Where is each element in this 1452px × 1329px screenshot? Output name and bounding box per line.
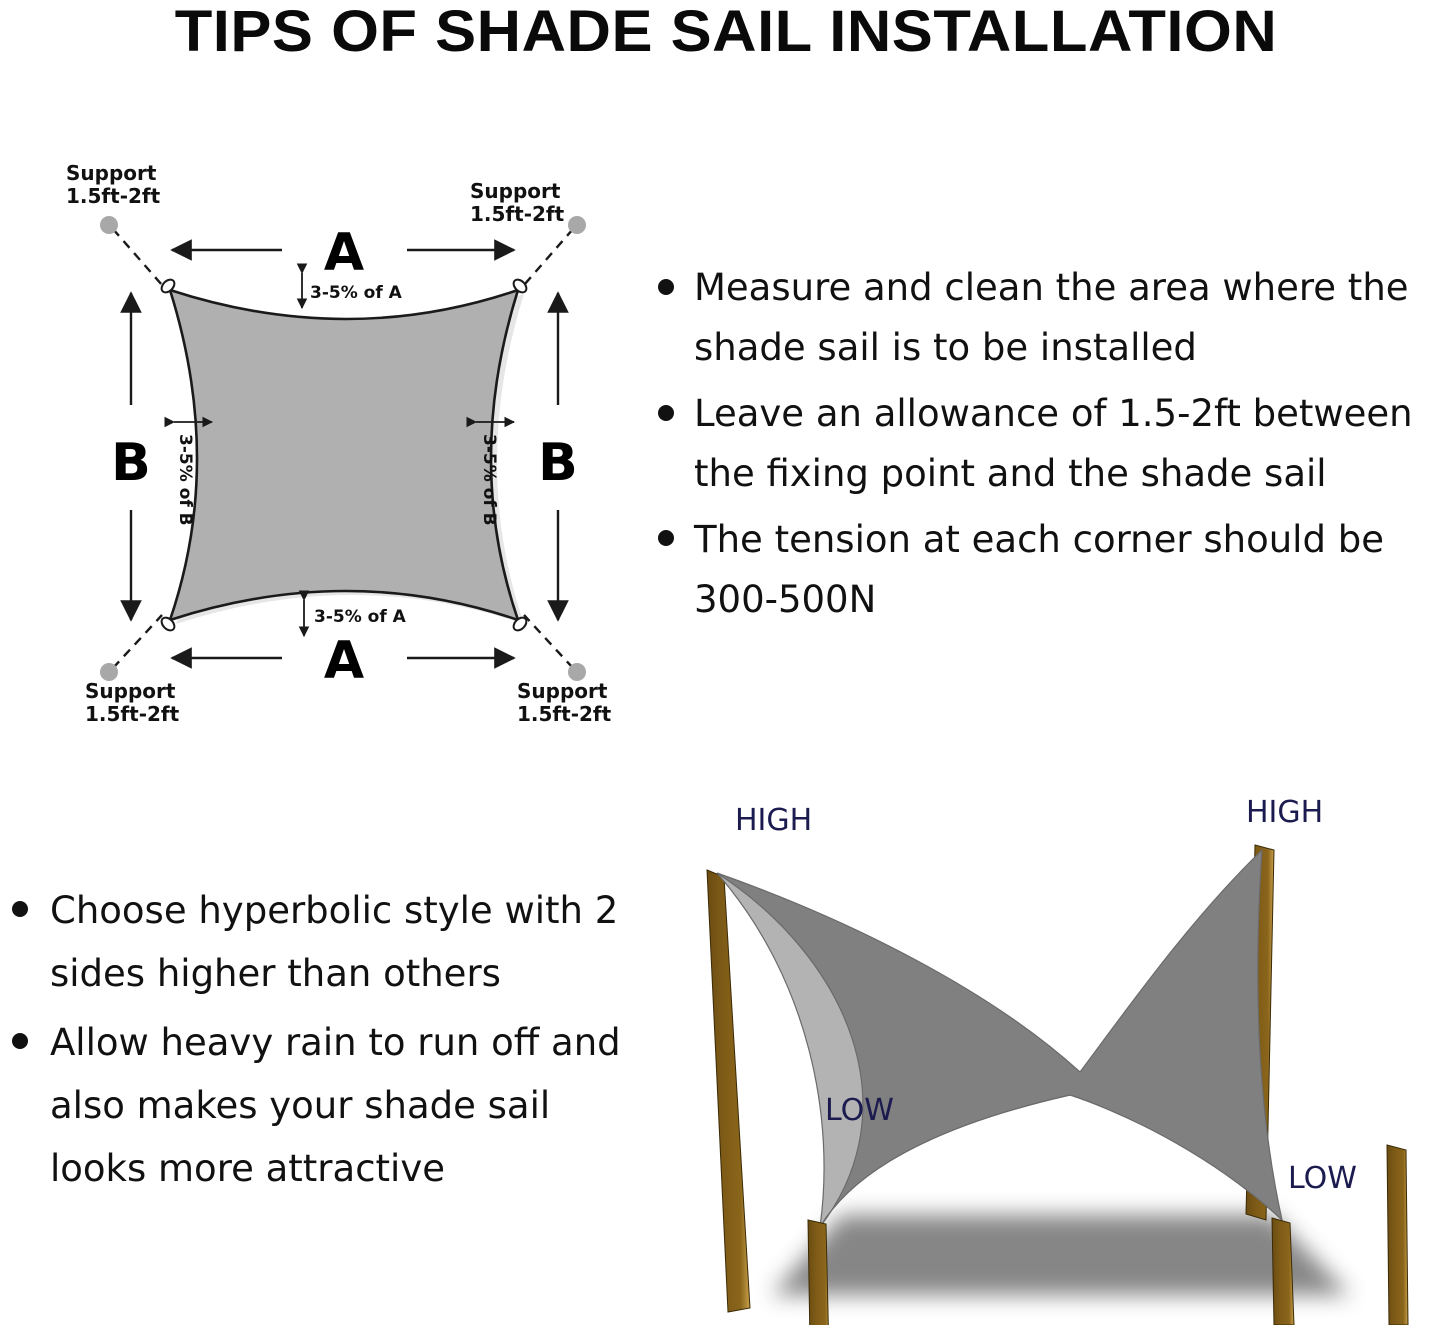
bullet-dot-icon <box>658 530 674 546</box>
support-label-bottom-right-line1: Support <box>517 679 608 703</box>
curve-label-bottom: 3-5% of A <box>314 607 407 627</box>
pole-front-right <box>1387 1145 1408 1325</box>
bullet-dot-icon <box>12 1033 28 1049</box>
list-item: Measure and clean the area where the sha… <box>648 258 1452 378</box>
square-sail-diagram: A 3-5% of A A 3-5% of A B 3-5% of B B 3-… <box>52 150 652 750</box>
list-item: Choose hyperbolic style with 2 sides hig… <box>0 880 640 1006</box>
style-tip-text: Choose hyperbolic style with 2 sides hig… <box>50 880 640 1006</box>
support-dot-top-left <box>100 216 118 234</box>
support-label-bottom-left-line1: Support <box>85 679 176 703</box>
sail-lobe-right <box>717 850 1282 1227</box>
dimension-label-A-bottom: A <box>324 631 364 691</box>
tip-text: Leave an allowance of 1.5-2ft between th… <box>694 384 1452 504</box>
support-label-top-left-line2: 1.5ft-2ft <box>66 184 161 208</box>
list-item: The tension at each corner should be 300… <box>648 510 1452 630</box>
curve-label-top: 3-5% of A <box>310 283 403 303</box>
curve-label-left: 3-5% of B <box>175 434 195 526</box>
tether-top-left <box>113 229 162 285</box>
list-item: Leave an allowance of 1.5-2ft between th… <box>648 384 1452 504</box>
pole-low-left <box>808 1220 830 1325</box>
tether-bottom-right <box>524 615 573 668</box>
support-label-bottom-left-line2: 1.5ft-2ft <box>85 702 180 726</box>
ground-shadow <box>772 1215 1350 1295</box>
dimension-label-A-top: A <box>324 223 364 283</box>
sail-body <box>170 290 518 620</box>
label-high-left: HIGH <box>735 803 812 838</box>
label-low-left: LOW <box>825 1093 894 1128</box>
tip-text: Measure and clean the area where the sha… <box>694 258 1452 378</box>
tether-bottom-left <box>113 615 162 668</box>
support-label-top-right-line2: 1.5ft-2ft <box>470 202 565 226</box>
installation-tips-list: Measure and clean the area where the sha… <box>648 258 1452 630</box>
dimension-label-B-left: B <box>111 433 151 493</box>
support-label-bottom-right-line2: 1.5ft-2ft <box>517 702 612 726</box>
support-dot-top-right <box>568 216 586 234</box>
bullet-dot-icon <box>12 901 28 917</box>
curve-label-right: 3-5% of B <box>479 434 499 526</box>
list-item: Allow heavy rain to run off and also mak… <box>0 1012 640 1201</box>
pole-back-left <box>707 870 750 1312</box>
support-label-top-right-line1: Support <box>470 179 561 203</box>
dimension-label-B-right: B <box>538 433 578 493</box>
installation-tips: Measure and clean the area where the sha… <box>648 258 1452 678</box>
tether-top-right <box>524 229 573 285</box>
tip-text: The tension at each corner should be 300… <box>694 510 1452 630</box>
label-low-right: LOW <box>1288 1161 1357 1196</box>
bullet-dot-icon <box>658 405 674 421</box>
hyperbolic-style-tips-list: Choose hyperbolic style with 2 sides hig… <box>0 880 640 1200</box>
support-label-top-left-line1: Support <box>66 161 157 185</box>
hyperbolic-style-tips: Choose hyperbolic style with 2 sides hig… <box>0 880 640 1210</box>
style-tip-text: Allow heavy rain to run off and also mak… <box>50 1012 640 1201</box>
page-title: TIPS OF SHADE SAIL INSTALLATION <box>0 0 1452 62</box>
pole-low-right <box>1272 1218 1294 1325</box>
hyperbolic-sail-illustration: HIGH HIGH LOW LOW <box>660 790 1452 1325</box>
bullet-dot-icon <box>658 279 674 295</box>
label-high-right: HIGH <box>1246 795 1323 830</box>
